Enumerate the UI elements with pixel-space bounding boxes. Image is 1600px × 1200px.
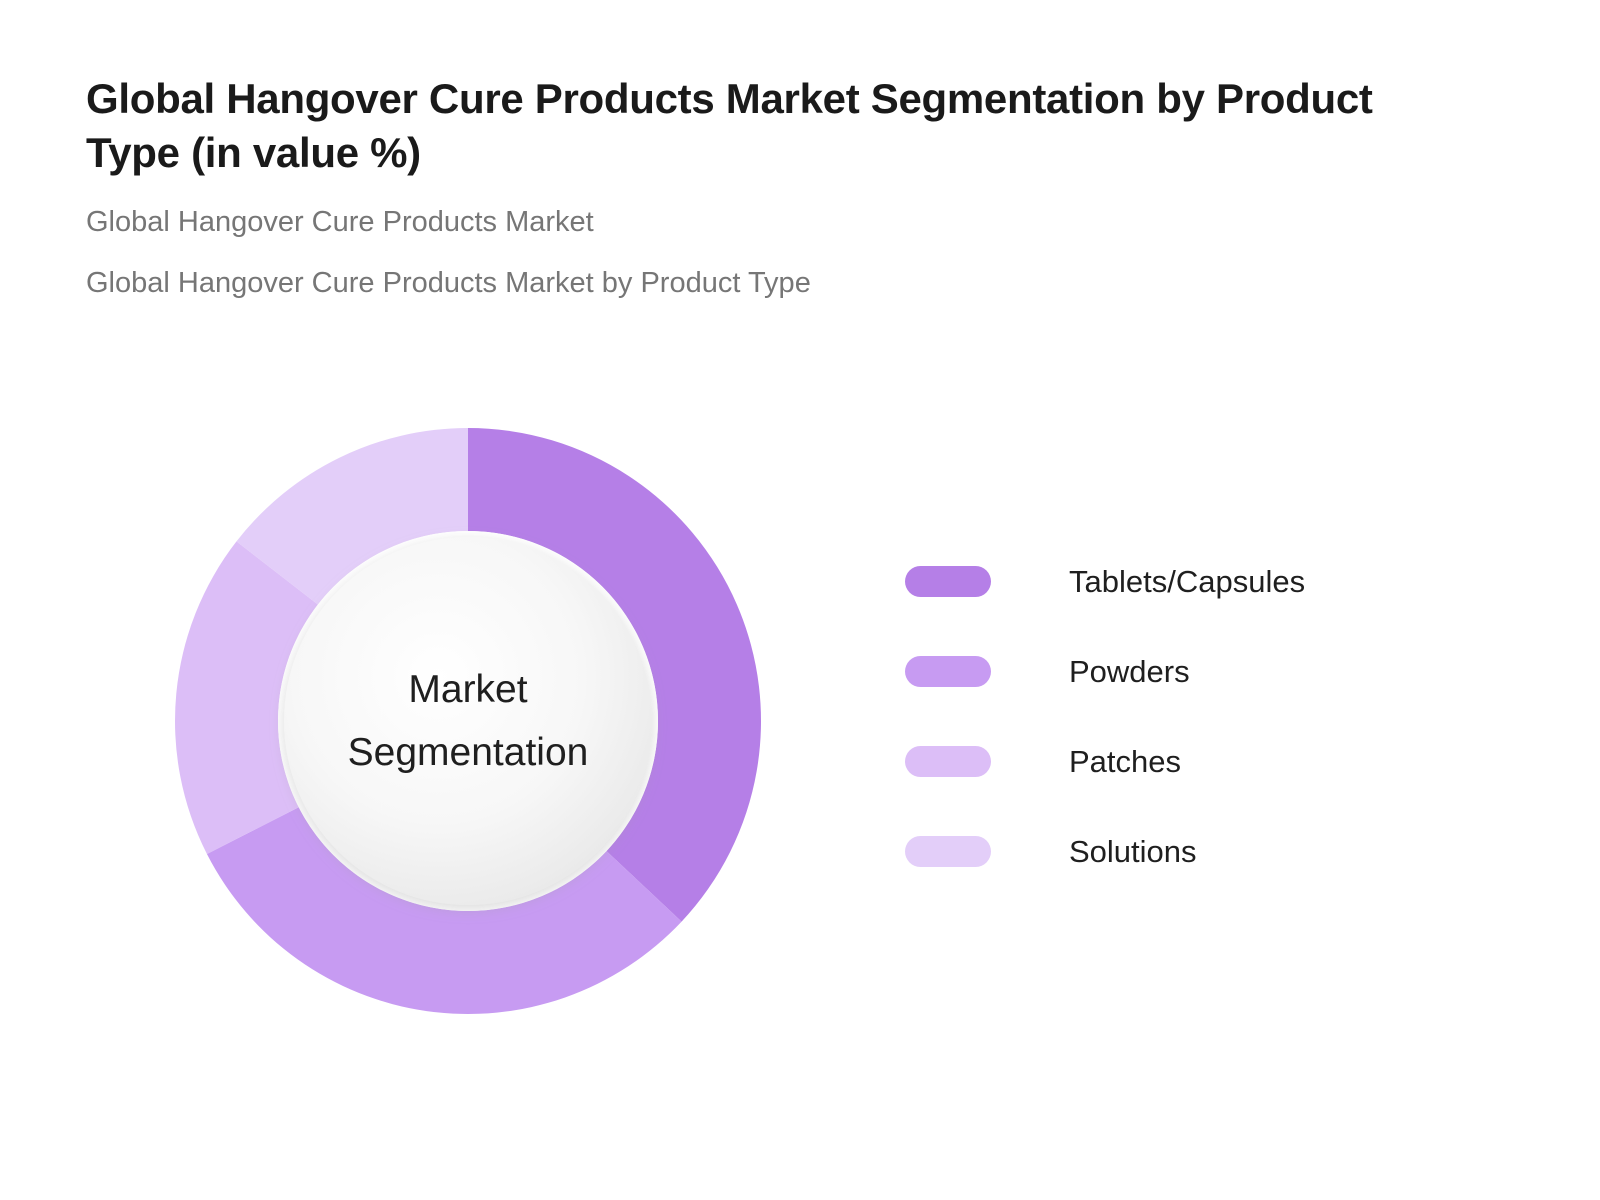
donut-chart: Market Segmentation (168, 421, 768, 1021)
legend-swatch-patches (905, 746, 991, 777)
legend-label-tablets-capsules: Tablets/Capsules (1069, 566, 1305, 597)
legend-swatch-tablets-capsules (905, 566, 991, 597)
legend-item-powders[interactable]: Powders (890, 626, 1490, 716)
legend-swatch-powders (905, 656, 991, 687)
legend-label-solutions: Solutions (1069, 836, 1197, 867)
chart-subtitle-secondary: Global Hangover Cure Products Market by … (86, 237, 1506, 298)
donut-svg (168, 421, 768, 1021)
chart-page: Global Hangover Cure Products Market Seg… (0, 0, 1600, 1200)
chart-header: Global Hangover Cure Products Market Seg… (86, 72, 1506, 298)
legend-label-powders: Powders (1069, 656, 1190, 687)
page-title: Global Hangover Cure Products Market Seg… (86, 72, 1456, 180)
legend-swatch-solutions (905, 836, 991, 867)
chart-legend: Tablets/CapsulesPowdersPatchesSolutions (890, 536, 1490, 896)
donut-hub (284, 537, 652, 905)
legend-item-patches[interactable]: Patches (890, 716, 1490, 806)
chart-subtitle-primary: Global Hangover Cure Products Market (86, 180, 1506, 237)
legend-item-tablets-capsules[interactable]: Tablets/Capsules (890, 536, 1490, 626)
legend-item-solutions[interactable]: Solutions (890, 806, 1490, 896)
legend-label-patches: Patches (1069, 746, 1181, 777)
